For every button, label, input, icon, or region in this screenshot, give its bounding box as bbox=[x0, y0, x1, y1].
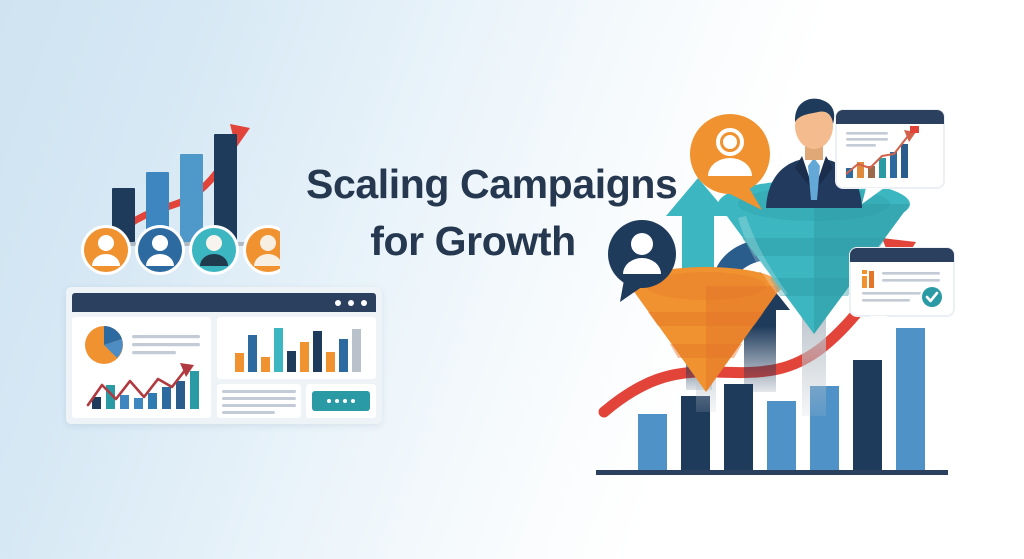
avatar bbox=[81, 225, 131, 275]
bar-3 bbox=[724, 384, 753, 472]
bar-7 bbox=[896, 328, 925, 472]
bar bbox=[879, 158, 886, 178]
right-bar-chart bbox=[217, 317, 376, 379]
bar bbox=[300, 342, 309, 372]
panel-bottom-row bbox=[217, 384, 376, 418]
button-dot bbox=[335, 399, 339, 403]
bar bbox=[313, 331, 322, 372]
bar bbox=[352, 329, 361, 372]
text-block bbox=[217, 384, 301, 418]
bar bbox=[248, 335, 257, 372]
button-dot bbox=[327, 399, 331, 403]
text-line bbox=[222, 411, 275, 414]
text-line bbox=[132, 351, 176, 354]
text-line bbox=[222, 404, 296, 407]
panel-pie-and-line bbox=[72, 317, 211, 418]
bar-4 bbox=[767, 401, 796, 472]
bar bbox=[134, 398, 143, 409]
action-button[interactable] bbox=[312, 391, 370, 411]
text-line bbox=[132, 335, 200, 338]
text-line bbox=[882, 279, 940, 282]
avatar-group bbox=[80, 222, 280, 278]
bar bbox=[162, 387, 171, 409]
bar bbox=[148, 393, 157, 409]
window-body bbox=[72, 317, 376, 418]
panel-bar-chart bbox=[217, 317, 376, 379]
report-card[interactable] bbox=[850, 248, 954, 332]
bar-1 bbox=[638, 414, 667, 472]
text-line bbox=[882, 272, 940, 275]
window-dot-3[interactable] bbox=[361, 300, 367, 306]
window-dot-1[interactable] bbox=[335, 300, 341, 306]
funnel-scene bbox=[596, 96, 1024, 516]
avatar bbox=[189, 225, 239, 275]
action-button-panel bbox=[306, 384, 376, 418]
text-line bbox=[846, 138, 888, 141]
text-line bbox=[222, 390, 296, 393]
illustration-canvas: Scaling Campaigns for Growth bbox=[0, 0, 1024, 559]
text-line bbox=[132, 343, 200, 346]
text-line bbox=[862, 292, 922, 295]
bar bbox=[890, 152, 897, 178]
window-titlebar bbox=[72, 293, 376, 312]
bar bbox=[235, 353, 244, 372]
flag-icon bbox=[910, 126, 919, 133]
window-dot-2[interactable] bbox=[348, 300, 354, 306]
button-dot bbox=[343, 399, 347, 403]
bar bbox=[901, 144, 908, 178]
bar-6 bbox=[853, 360, 882, 472]
bar bbox=[261, 357, 270, 372]
bar bbox=[120, 395, 129, 409]
bar bbox=[190, 371, 199, 409]
check-badge bbox=[920, 285, 944, 309]
avatar bbox=[135, 225, 185, 275]
chart-baseline bbox=[596, 470, 948, 475]
bar bbox=[274, 328, 283, 372]
panel-left-graphics bbox=[78, 323, 205, 412]
button-dot bbox=[351, 399, 355, 403]
text-line bbox=[862, 299, 910, 302]
bar bbox=[326, 352, 335, 372]
bar bbox=[287, 351, 296, 372]
analytics-browser-window[interactable] bbox=[66, 287, 382, 424]
bar bbox=[176, 381, 185, 409]
avatar bbox=[243, 225, 280, 275]
text-line bbox=[846, 132, 888, 135]
text-line bbox=[846, 144, 876, 147]
text-line bbox=[222, 397, 296, 400]
pie-chart bbox=[85, 326, 123, 364]
panel-right-column bbox=[217, 317, 376, 418]
bar bbox=[339, 339, 348, 372]
